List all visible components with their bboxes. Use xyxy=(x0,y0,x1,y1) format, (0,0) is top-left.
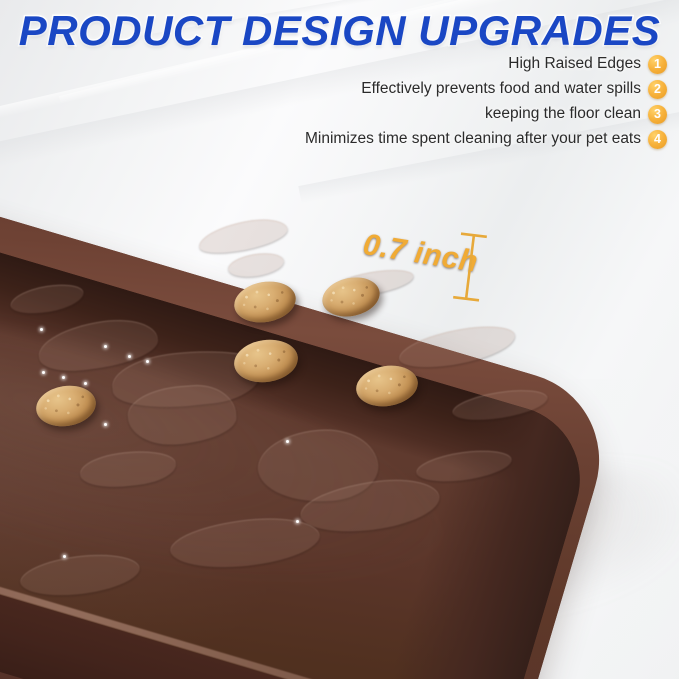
water-sparkle xyxy=(104,423,107,426)
list-item: Minimizes time spent cleaning after your… xyxy=(305,129,667,149)
water-sparkle xyxy=(296,520,299,523)
list-item: Effectively prevents food and water spil… xyxy=(361,79,667,99)
feature-text: Minimizes time spent cleaning after your… xyxy=(305,129,641,149)
feature-number-badge: 3 xyxy=(648,105,667,124)
water-sparkle xyxy=(104,345,107,348)
feature-text: High Raised Edges xyxy=(508,54,641,74)
feature-number-badge: 2 xyxy=(648,80,667,99)
water-sparkle xyxy=(84,382,87,385)
water-puddle xyxy=(196,214,290,259)
feature-number-badge: 4 xyxy=(648,130,667,149)
water-sparkle xyxy=(63,555,66,558)
water-puddle xyxy=(227,250,286,280)
measurement-bracket-icon xyxy=(448,230,492,304)
feature-text: Effectively prevents food and water spil… xyxy=(361,79,641,99)
feature-number-badge: 1 xyxy=(648,55,667,74)
water-sparkle xyxy=(128,355,131,358)
water-sparkle xyxy=(286,440,289,443)
water-sparkle xyxy=(62,376,65,379)
water-sparkle xyxy=(42,371,45,374)
list-item: High Raised Edges 1 xyxy=(508,54,667,74)
feature-text: keeping the floor clean xyxy=(485,104,641,124)
list-item: keeping the floor clean 3 xyxy=(485,104,667,124)
page-title: PRODUCT DESIGN UPGRADES xyxy=(0,8,679,54)
water-sparkle xyxy=(146,360,149,363)
feature-list: High Raised Edges 1 Effectively prevents… xyxy=(305,54,667,149)
product-marketing-image: 0.7 inch PRODUCT DESIGN UPGRADES High Ra… xyxy=(0,0,679,679)
water-sparkle xyxy=(40,328,43,331)
